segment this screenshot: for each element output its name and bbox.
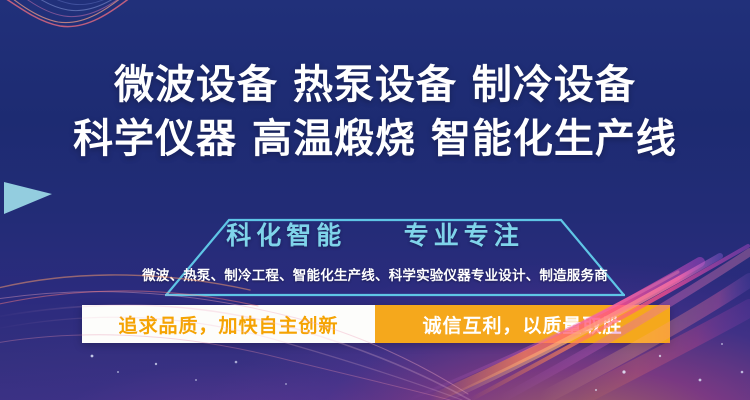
ribbon-right-text: 诚信互利，以质量取胜 [375, 305, 670, 343]
promo-banner: 微波设备 热泵设备 制冷设备 科学仪器 高温煅烧 智能化生产线 科化智能 专业专… [0, 0, 750, 400]
slogan-right: 专业专注 [404, 221, 524, 250]
headline-line-2: 科学仪器 高温煅烧 智能化生产线 [0, 112, 750, 166]
triangle-right-icon [4, 182, 52, 214]
headline-line-1: 微波设备 热泵设备 制冷设备 [0, 58, 750, 112]
slogan-row: 科化智能 专业专注 [0, 216, 750, 252]
slogan-left: 科化智能 [226, 221, 346, 250]
bottom-ribbon: 追求品质，加快自主创新 诚信互利，以质量取胜 [82, 305, 670, 343]
headline-block: 微波设备 热泵设备 制冷设备 科学仪器 高温煅烧 智能化生产线 [0, 58, 750, 166]
ribbon-left-text: 追求品质，加快自主创新 [82, 305, 375, 343]
subline-text: 微波、热泵、制冷工程、智能化生产线、科学实验仪器专业设计、制造服务商 [0, 264, 750, 284]
